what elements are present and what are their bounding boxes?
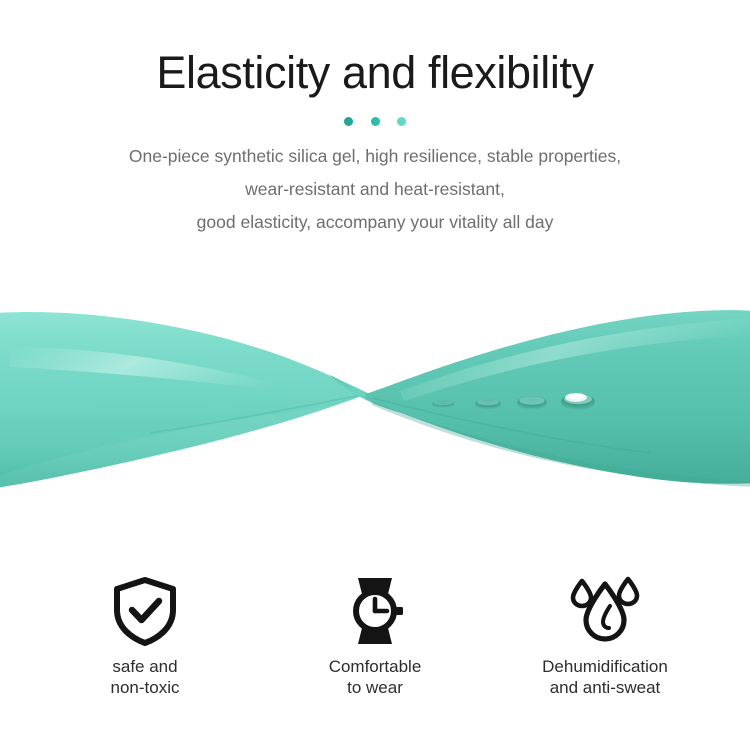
feature-label-line-1: Comfortable xyxy=(329,657,422,676)
shield-check-icon xyxy=(30,575,260,647)
feature-label-line-1: Dehumidification xyxy=(542,657,668,676)
feature-label-line-1: safe and xyxy=(112,657,177,676)
feature-safe-non-toxic: safe and non-toxic xyxy=(30,575,260,698)
feature-dehumidification: Dehumidification and anti-sweat xyxy=(490,575,720,698)
description-text: One-piece synthetic silica gel, high res… xyxy=(55,140,695,239)
description-line-3: good elasticity, accompany your vitality… xyxy=(55,206,695,239)
feature-row: safe and non-toxic xyxy=(0,575,750,698)
dot-2-icon xyxy=(371,117,380,126)
product-hero-image xyxy=(0,255,750,540)
feature-label-dehumidification: Dehumidification and anti-sweat xyxy=(490,656,720,698)
adjustment-hole-3 xyxy=(517,396,547,410)
description-line-1: One-piece synthetic silica gel, high res… xyxy=(55,140,695,173)
page-title: Elasticity and flexibility xyxy=(0,0,750,102)
feature-comfortable-to-wear: Comfortable to wear xyxy=(260,575,490,698)
feature-label-line-2: and anti-sweat xyxy=(490,677,720,698)
dot-3-icon xyxy=(397,117,406,126)
feature-label-safe-non-toxic: safe and non-toxic xyxy=(30,656,260,698)
product-feature-page: Elasticity and flexibility One-piece syn… xyxy=(0,0,750,750)
feature-label-line-2: non-toxic xyxy=(30,677,260,698)
band-left-lower xyxy=(0,391,368,488)
adjustment-hole-2 xyxy=(475,399,501,410)
wristwatch-icon xyxy=(260,575,490,647)
dot-1-icon xyxy=(344,117,353,126)
feature-label-comfortable-to-wear: Comfortable to wear xyxy=(260,656,490,698)
separator-dots xyxy=(344,114,406,128)
adjustment-hole-1 xyxy=(432,400,454,408)
description-line-2: wear-resistant and heat-resistant, xyxy=(55,173,695,206)
water-droplets-icon xyxy=(490,575,720,647)
feature-label-line-2: to wear xyxy=(260,677,490,698)
header-section: Elasticity and flexibility One-piece syn… xyxy=(0,0,750,239)
